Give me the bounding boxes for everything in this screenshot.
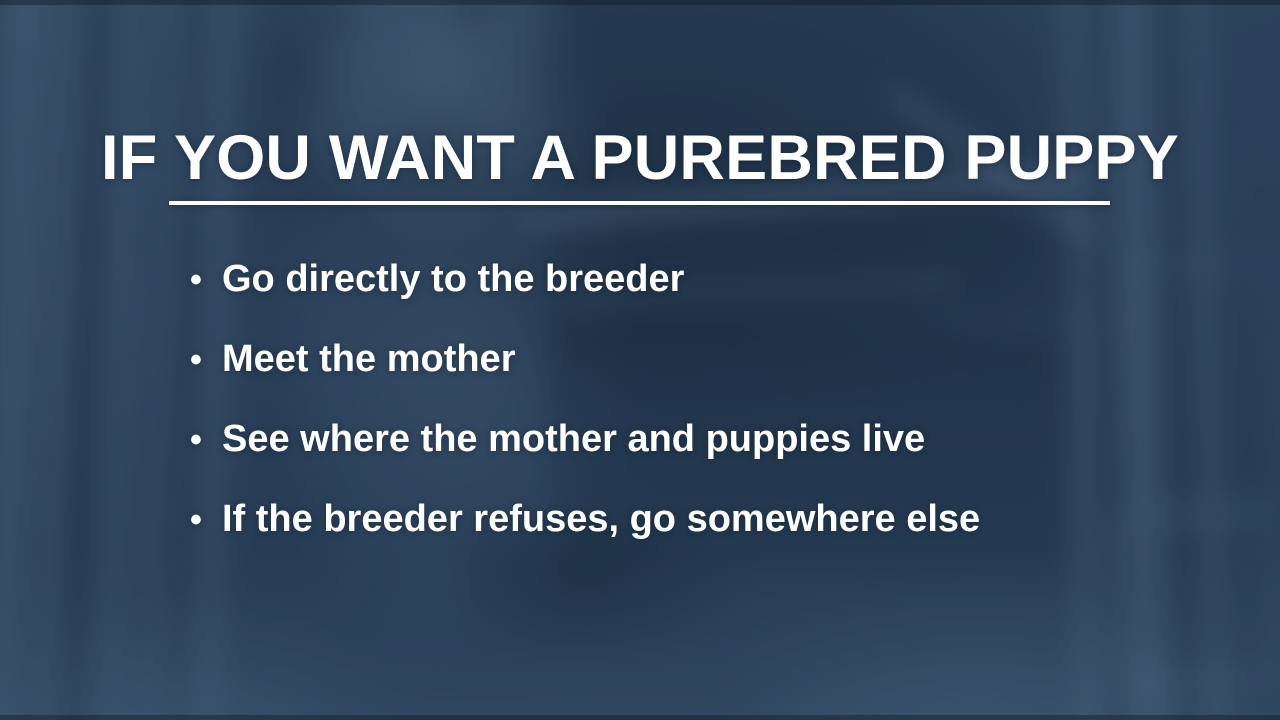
slide-title: IF YOU WANT A PUREBRED PUPPY: [0, 125, 1280, 191]
bullet-dot-icon: •: [190, 423, 222, 457]
list-item: • Meet the mother: [190, 338, 1190, 418]
bullet-dot-icon: •: [190, 343, 222, 377]
list-item: • If the breeder refuses, go somewhere e…: [190, 498, 1190, 578]
list-item: • Go directly to the breeder: [190, 258, 1190, 338]
presentation-slide: IF YOU WANT A PUREBRED PUPPY • Go direct…: [0, 0, 1280, 720]
title-divider-rule: [169, 201, 1110, 205]
list-item-label: Meet the mother: [222, 338, 515, 382]
bullet-list: • Go directly to the breeder • Meet the …: [190, 258, 1190, 578]
bullet-dot-icon: •: [190, 263, 222, 297]
list-item-label: If the breeder refuses, go somewhere els…: [222, 498, 980, 542]
list-item-label: Go directly to the breeder: [222, 258, 684, 302]
slide-content: IF YOU WANT A PUREBRED PUPPY • Go direct…: [0, 0, 1280, 720]
list-item: • See where the mother and puppies live: [190, 418, 1190, 498]
list-item-label: See where the mother and puppies live: [222, 418, 925, 462]
bullet-dot-icon: •: [190, 503, 222, 537]
